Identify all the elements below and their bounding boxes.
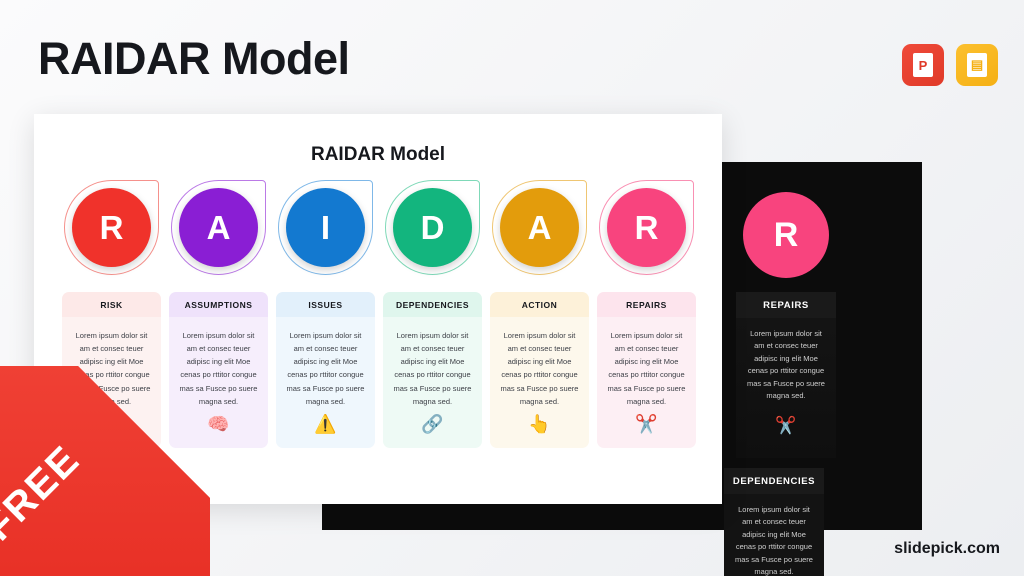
powerpoint-badge-glyph: P xyxy=(913,53,933,77)
label-action: ACTION xyxy=(490,292,589,317)
label-assumptions: ASSUMPTIONS xyxy=(169,292,268,317)
body-action: Lorem ipsum dolor sit am et consec teuer… xyxy=(490,317,589,448)
body-issues: Lorem ipsum dolor sit am et consec teuer… xyxy=(276,317,375,448)
google-slides-badge-glyph: ▤ xyxy=(967,53,987,77)
label-repairs: REPAIRS xyxy=(597,292,696,317)
circle-assumptions: A xyxy=(179,188,258,267)
light-slide-title: RAIDAR Model xyxy=(34,144,722,166)
dark-partial-body-dependencies: Lorem ipsum dolor sit am et consec teuer… xyxy=(724,494,824,576)
issues-icon: ⚠️ xyxy=(285,408,366,442)
body-text-risk: Lorem ipsum dolor sit am et consec teuer… xyxy=(73,331,151,406)
body-assumptions: Lorem ipsum dolor sit am et consec teuer… xyxy=(169,317,268,448)
circle-action: A xyxy=(500,188,579,267)
dark-card-repairs[interactable]: R REPAIRS Lorem ipsum dolor sit am et co… xyxy=(736,192,836,458)
page-title: RAIDAR Model xyxy=(38,33,349,85)
ring-wrap-action: A xyxy=(490,180,589,286)
body-text-repairs: Lorem ipsum dolor sit am et consec teuer… xyxy=(608,331,686,406)
watermark: slidepick.com xyxy=(894,540,1000,558)
card-risk[interactable]: R RISK Lorem ipsum dolor sit am et conse… xyxy=(62,180,161,448)
body-risk: Lorem ipsum dolor sit am et consec teuer… xyxy=(62,317,161,448)
body-text-assumptions: Lorem ipsum dolor sit am et consec teuer… xyxy=(180,331,258,406)
body-text-dependencies: Lorem ipsum dolor sit am et consec teuer… xyxy=(394,331,472,406)
circle-dependencies: D xyxy=(393,188,472,267)
ring-wrap-dependencies: D xyxy=(383,180,482,286)
light-slide[interactable]: RAIDAR Model R RISK Lorem ipsum dolor si… xyxy=(34,114,722,504)
dark-body-text-repairs: Lorem ipsum dolor sit am et consec teuer… xyxy=(747,329,825,400)
slide-preview-page: RAIDAR Model P ▤ RAIDAR Model DEPENDENCI… xyxy=(0,0,1024,576)
repairs-icon: ✂️ xyxy=(745,412,827,440)
risk-icon: 🥼 xyxy=(71,408,152,442)
circle-issues: I xyxy=(286,188,365,267)
card-dependencies[interactable]: D DEPENDENCIES Lorem ipsum dolor sit am … xyxy=(383,180,482,448)
repairs-icon: ✂️ xyxy=(606,408,687,442)
label-issues: ISSUES xyxy=(276,292,375,317)
action-icon: 👆 xyxy=(499,408,580,442)
circle-risk: R xyxy=(72,188,151,267)
body-text-action: Lorem ipsum dolor sit am et consec teuer… xyxy=(501,331,579,406)
body-dependencies: Lorem ipsum dolor sit am et consec teuer… xyxy=(383,317,482,448)
dark-label-repairs: REPAIRS xyxy=(736,292,836,318)
ring-wrap-issues: I xyxy=(276,180,375,286)
ring-wrap-assumptions: A xyxy=(169,180,268,286)
dark-partial-label-dependencies: DEPENDENCIES xyxy=(724,468,824,494)
circle-repairs: R xyxy=(607,188,686,267)
format-badges: P ▤ xyxy=(902,44,998,86)
card-repairs[interactable]: R REPAIRS Lorem ipsum dolor sit am et co… xyxy=(597,180,696,448)
dark-circle-repairs: R xyxy=(743,192,829,278)
ring-wrap-repairs: R xyxy=(597,180,696,286)
label-dependencies: DEPENDENCIES xyxy=(383,292,482,317)
ring-wrap-risk: R xyxy=(62,180,161,286)
powerpoint-badge[interactable]: P xyxy=(902,44,944,86)
body-text-issues: Lorem ipsum dolor sit am et consec teuer… xyxy=(287,331,365,406)
card-issues[interactable]: I ISSUES Lorem ipsum dolor sit am et con… xyxy=(276,180,375,448)
dark-body-repairs: Lorem ipsum dolor sit am et consec teuer… xyxy=(736,318,836,458)
label-risk: RISK xyxy=(62,292,161,317)
light-slide-cards: R RISK Lorem ipsum dolor sit am et conse… xyxy=(62,180,696,448)
assumptions-icon: 🧠 xyxy=(178,408,259,442)
card-assumptions[interactable]: A ASSUMPTIONS Lorem ipsum dolor sit am e… xyxy=(169,180,268,448)
google-slides-badge[interactable]: ▤ xyxy=(956,44,998,86)
card-action[interactable]: A ACTION Lorem ipsum dolor sit am et con… xyxy=(490,180,589,448)
body-repairs: Lorem ipsum dolor sit am et consec teuer… xyxy=(597,317,696,448)
dependencies-icon: 🔗 xyxy=(392,408,473,442)
